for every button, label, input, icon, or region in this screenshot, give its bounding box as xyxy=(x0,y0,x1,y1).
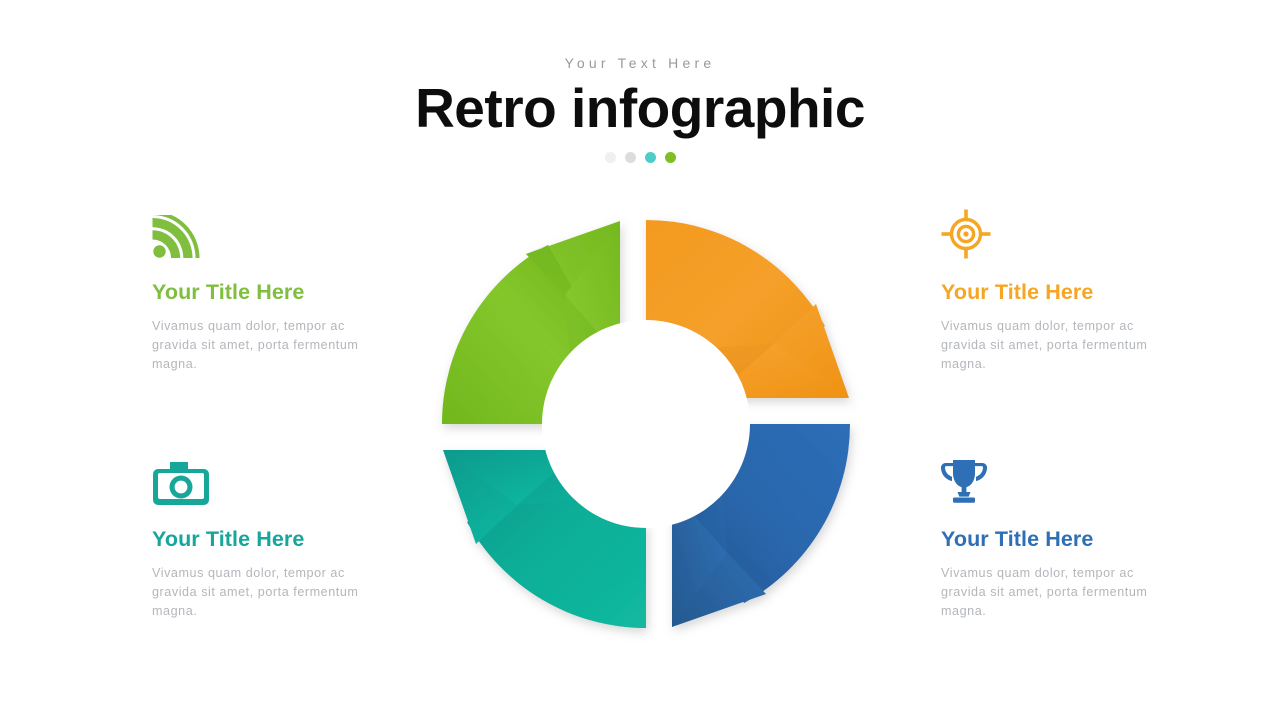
dot-2-icon xyxy=(625,152,636,163)
decorative-dots xyxy=(0,152,1280,163)
info-block-body: Vivamus quam dolor, tempor ac gravida si… xyxy=(152,317,367,374)
eyebrow-text: Your Text Here xyxy=(0,56,1280,70)
info-block-top-right[interactable]: Your Title Here Vivamus quam dolor, temp… xyxy=(941,205,1181,374)
page-header: Your Text Here Retro infographic xyxy=(0,0,1280,163)
info-block-top-left[interactable]: Your Title Here Vivamus quam dolor, temp… xyxy=(152,205,392,374)
cycle-center-hole xyxy=(542,320,750,528)
info-block-bottom-left[interactable]: Your Title Here Vivamus quam dolor, temp… xyxy=(152,452,392,621)
info-block-body: Vivamus quam dolor, tempor ac gravida si… xyxy=(152,564,367,621)
target-crosshair-icon xyxy=(941,205,1181,259)
camera-icon xyxy=(152,452,392,506)
cycle-diagram xyxy=(420,198,872,650)
info-block-body: Vivamus quam dolor, tempor ac gravida si… xyxy=(941,317,1156,374)
info-block-body: Vivamus quam dolor, tempor ac gravida si… xyxy=(941,564,1156,621)
info-block-title: Your Title Here xyxy=(152,528,392,552)
rss-signal-icon xyxy=(152,205,392,259)
info-block-title: Your Title Here xyxy=(941,528,1181,552)
info-block-title: Your Title Here xyxy=(941,281,1181,305)
info-block-bottom-right[interactable]: Your Title Here Vivamus quam dolor, temp… xyxy=(941,452,1181,621)
trophy-icon xyxy=(941,452,1181,506)
dot-4-icon xyxy=(665,152,676,163)
dot-3-icon xyxy=(645,152,656,163)
info-block-title: Your Title Here xyxy=(152,281,392,305)
page-title: Retro infographic xyxy=(0,78,1280,140)
dot-1-icon xyxy=(605,152,616,163)
